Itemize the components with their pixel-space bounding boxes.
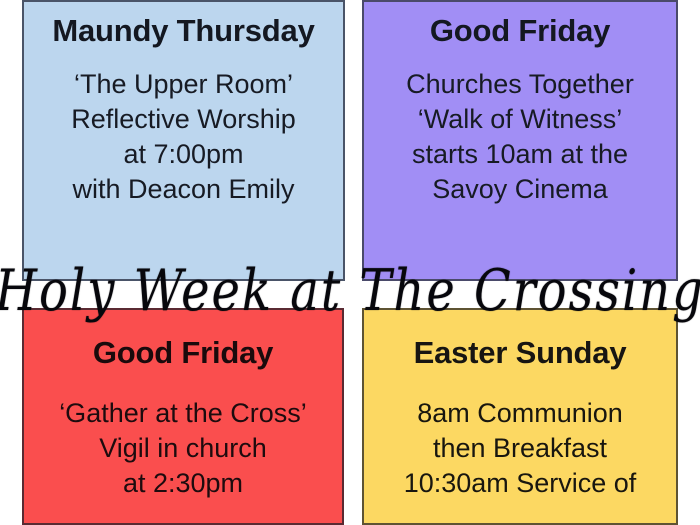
panel-good-friday-vigil: Good Friday ‘Gather at the Cross’ Vigil … (22, 308, 344, 525)
panel-good-friday-walk: Good Friday Churches Together ‘Walk of W… (362, 0, 678, 281)
panel-body-line: with Deacon Emily (24, 172, 343, 207)
panel-body-line: Reflective Worship (24, 102, 343, 137)
panel-body-line: then Breakfast (364, 431, 676, 466)
panel-heading: Maundy Thursday (24, 15, 343, 48)
panel-body: ‘Gather at the Cross’ Vigil in church at… (24, 396, 342, 501)
panel-body: ‘The Upper Room’ Reflective Worship at 7… (24, 67, 343, 207)
panel-body-line: ‘Walk of Witness’ (364, 102, 676, 137)
panel-heading: Easter Sunday (364, 337, 676, 370)
panel-body: Churches Together ‘Walk of Witness’ star… (364, 67, 676, 207)
panel-easter-sunday: Easter Sunday 8am Communion then Breakfa… (362, 308, 678, 525)
panel-heading: Good Friday (24, 337, 342, 370)
panel-heading: Good Friday (364, 15, 676, 48)
panel-body-line: Churches Together (364, 67, 676, 102)
panel-body-line: at 2:30pm (24, 466, 342, 501)
panel-body-line: Vigil in church (24, 431, 342, 466)
panel-body-line: 10:30am Service of (364, 466, 676, 501)
panel-maundy-thursday: Maundy Thursday ‘The Upper Room’ Reflect… (22, 0, 345, 281)
panel-body-line: Savoy Cinema (364, 172, 676, 207)
panel-body-line: at 7:00pm (24, 137, 343, 172)
panel-body-line: ‘Gather at the Cross’ (24, 396, 342, 431)
panel-body-line: ‘The Upper Room’ (24, 67, 343, 102)
panel-body-line: starts 10am at the (364, 137, 676, 172)
holy-week-poster: Maundy Thursday ‘The Upper Room’ Reflect… (0, 0, 700, 525)
panel-body-line: 8am Communion (364, 396, 676, 431)
panel-body: 8am Communion then Breakfast 10:30am Ser… (364, 396, 676, 501)
